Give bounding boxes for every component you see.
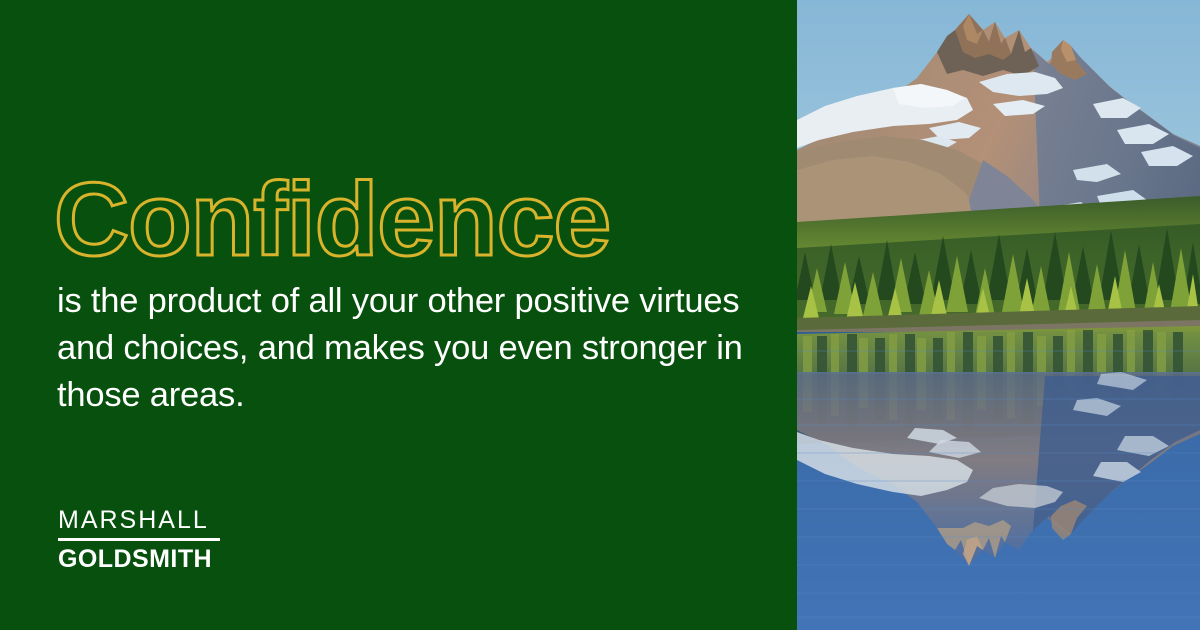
brand-logo: MARSHALL GOLDSMITH (58, 506, 220, 574)
logo-divider-rule (58, 538, 220, 541)
logo-line-marshall: MARSHALL (58, 506, 220, 535)
mountain-lake-photo (797, 0, 1200, 630)
logo-line-goldsmith: GOLDSMITH (58, 545, 220, 574)
quote-body-text: is the product of all your other positiv… (57, 278, 757, 419)
left-content-panel: Confidence is the product of all your ot… (0, 0, 797, 630)
mountain-lake-illustration (797, 0, 1200, 630)
page-title: Confidence (54, 168, 610, 272)
quote-card: Confidence is the product of all your ot… (0, 0, 1200, 630)
